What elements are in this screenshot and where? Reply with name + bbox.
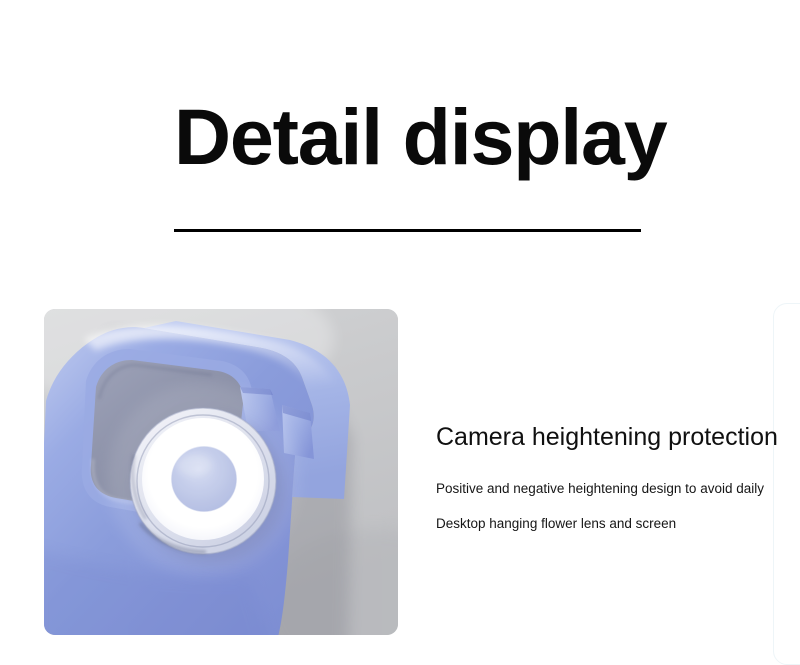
page-title: Detail display: [174, 97, 667, 176]
right-edge-panel-outline: [773, 303, 800, 665]
title-divider-rule: [174, 229, 641, 232]
feature-heading: Camera heightening protection: [436, 422, 778, 452]
product-photo: [44, 309, 398, 635]
feature-description-line-1: Positive and negative heightening design…: [436, 481, 764, 497]
product-photo-illustration: [44, 309, 398, 635]
feature-description-line-2: Desktop hanging flower lens and screen: [436, 516, 676, 532]
